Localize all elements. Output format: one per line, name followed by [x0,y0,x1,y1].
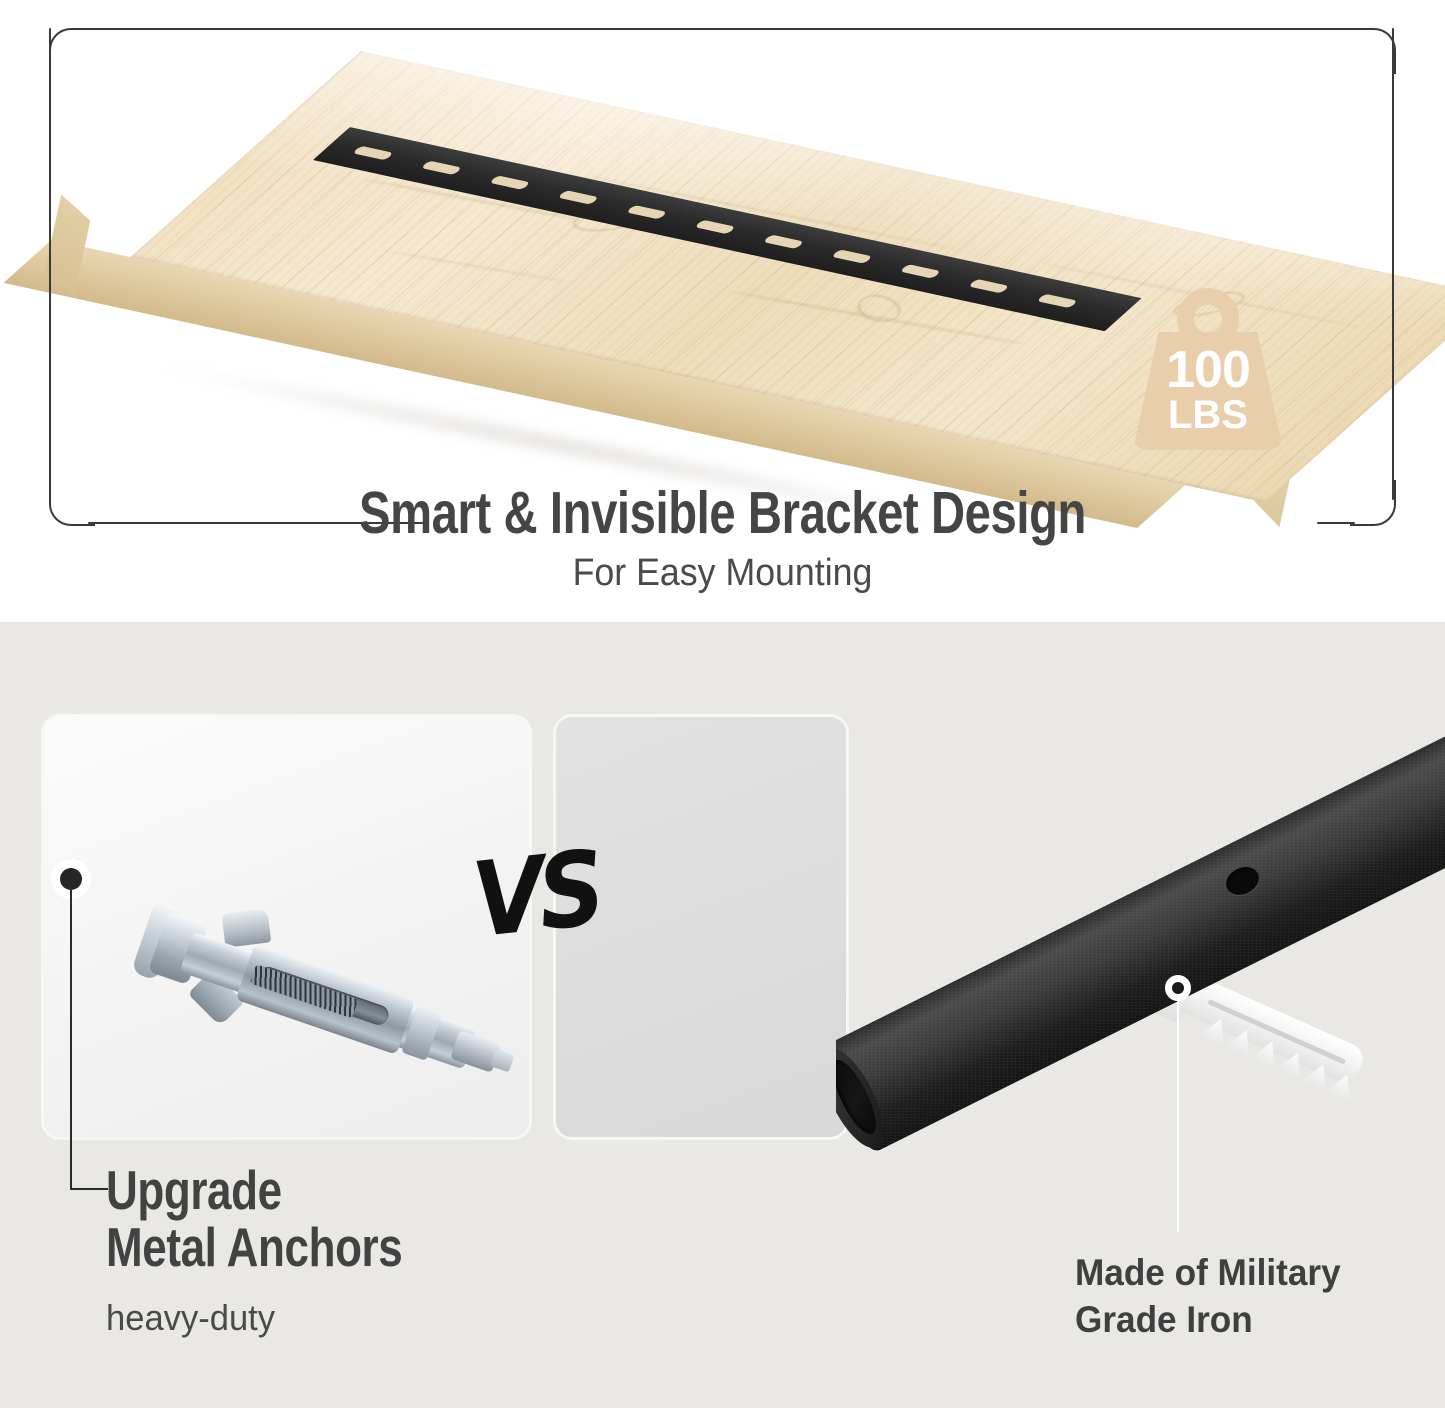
weight-badge-text: 100 LBS [1133,346,1283,434]
infographic-page: 100 LBS Smart & Invisible Bracket Design… [0,0,1445,1408]
anchor-wing [221,908,271,947]
iron-pipe [836,702,1445,1154]
top-section: 100 LBS Smart & Invisible Bracket Design… [0,0,1445,622]
bracket-slot [626,204,668,219]
bracket-slot [558,190,600,205]
versus-icon: VS [467,822,602,979]
weight-number: 100 [1133,346,1283,396]
callout-leader-line-vertical [70,888,72,1189]
bracket-slot [490,175,532,190]
caption-line-1: Made of Military [1075,1249,1398,1296]
bracket-slot [1037,293,1079,308]
frame-edge-left [49,28,51,500]
bracket-slot [968,278,1010,293]
caption-military-grade-iron: Made of Military Grade Iron [1075,1249,1398,1344]
bracket-slot [763,234,805,249]
bracket-slot [421,160,463,175]
frame-corner-bottom-right [1350,480,1396,526]
subheadline: For Easy Mounting [43,552,1401,595]
frame-edge-top [88,28,1354,30]
bracket-slot [353,145,395,160]
weight-unit: LBS [1133,396,1283,434]
frame-corner-bottom-left [49,480,95,526]
weight-capacity-badge: 100 LBS [1133,288,1283,450]
iron-pipe-image [836,702,1445,1222]
frame-edge-right [1392,28,1394,500]
bracket-slot [832,249,874,264]
frame-edge-bottom-right [1317,522,1355,524]
headline: Smart & Invisible Bracket Design [145,479,1301,547]
caption-subtext: heavy-duty [106,1297,644,1339]
callout-marker-metal-anchor [60,868,82,890]
callout-marker-iron-pipe [1165,975,1191,1001]
anchor-tip-end [490,1049,515,1073]
caption-metal-anchors: Upgrade Metal Anchors heavy-duty [106,1162,666,1339]
bracket-slot [695,219,737,234]
shelf-product-image [0,0,1280,480]
frame-corner-top-left [49,28,95,74]
caption-line-1: Upgrade [106,1162,554,1219]
bracket-slot [900,264,942,279]
frame-corner-top-right [1350,28,1396,74]
callout-leader-line-pipe [1177,1000,1179,1232]
metal-anchor-panel [44,717,529,1137]
callout-leader-line-horizontal [70,1188,108,1190]
caption-line-2: Metal Anchors [106,1219,554,1276]
caption-line-2: Grade Iron [1075,1296,1398,1343]
wood-grain-line [380,249,565,282]
pipe-drill-hole [1221,862,1263,900]
